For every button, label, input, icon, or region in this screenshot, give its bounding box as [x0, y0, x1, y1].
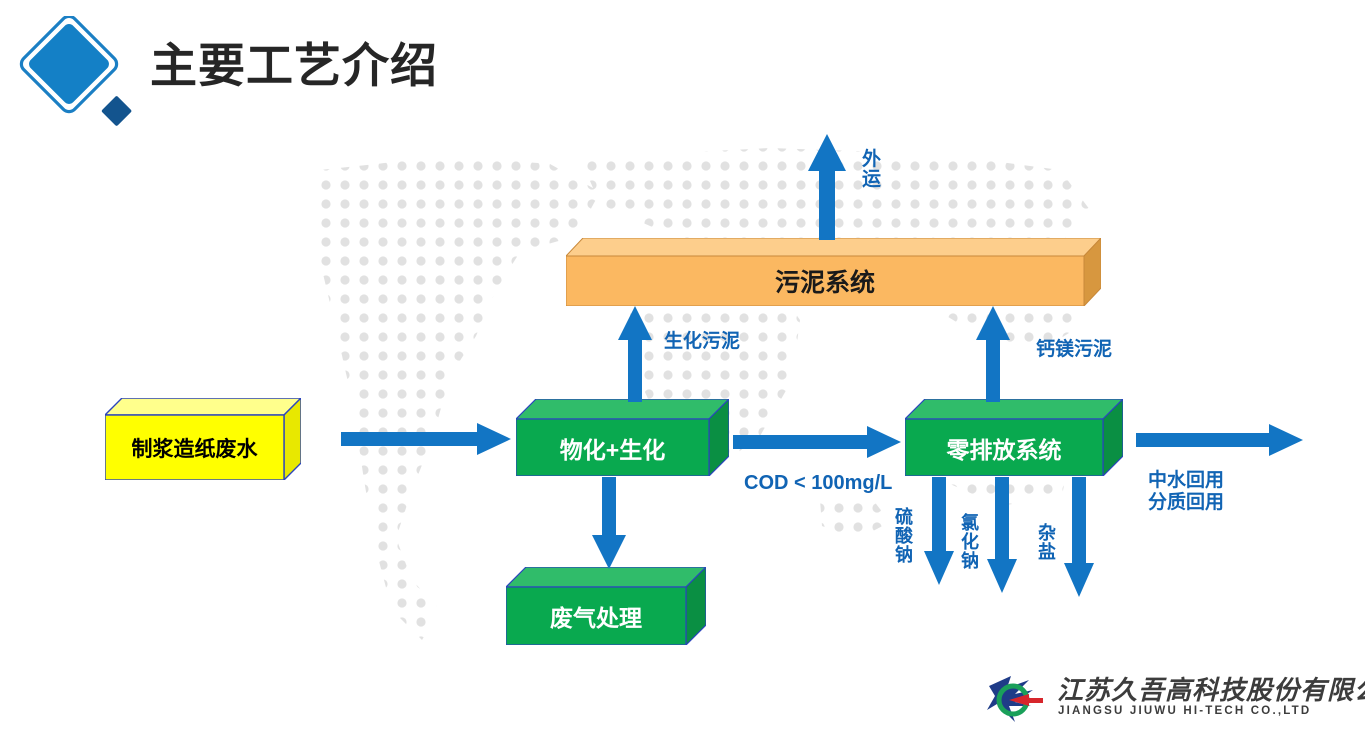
slide-canvas: 主要工艺介绍 污泥系统 制浆造纸废水 物化+生化: [0, 0, 1365, 753]
flow-label-reuse: 中水回用 分质回用: [1148, 470, 1224, 515]
flow-label-sodium-chloride: 氯化钠: [961, 514, 982, 571]
jiuwu-emblem-icon: [985, 672, 1055, 728]
node-sludge-system[interactable]: 污泥系统: [566, 238, 1101, 306]
arrow-zld-sodium-chloride: [987, 477, 1017, 593]
company-logo: 江苏久吾高科技股份有限公司 JIANGSU JIUWU HI-TECH CO.,…: [985, 672, 1355, 734]
arrow-zld-mixed-salt: [1064, 477, 1094, 597]
node-waste-gas-treatment[interactable]: 废气处理: [506, 567, 706, 645]
flow-label-camg-sludge: 钙镁污泥: [1036, 339, 1112, 361]
node-physicochemical-biochemical[interactable]: 物化+生化: [516, 399, 729, 476]
node-label: 制浆造纸废水: [132, 433, 258, 463]
slide-header: 主要工艺介绍: [0, 0, 1365, 130]
arrow-zld-to-sludge: [976, 306, 1010, 402]
flow-label-cod: COD < 100mg/L: [744, 472, 892, 496]
flow-label-reuse-line1: 中水回用: [1148, 470, 1224, 492]
company-name-en: JIANGSU JIUWU HI-TECH CO.,LTD: [1058, 705, 1311, 717]
flow-label-sodium-sulfate: 硫酸钠: [895, 508, 916, 565]
node-zero-liquid-discharge[interactable]: 零排放系统: [905, 399, 1123, 476]
arrow-zld-to-reuse: [1136, 424, 1303, 456]
node-pulp-paper-wastewater[interactable]: 制浆造纸废水: [105, 398, 301, 480]
arrow-influent-to-treatment: [341, 423, 511, 455]
flow-label-reuse-line2: 分质回用: [1148, 492, 1224, 514]
arrow-zld-sodium-sulfate: [924, 477, 954, 585]
node-label: 零排放系统: [947, 431, 1062, 465]
arrow-sludge-offsite: [808, 134, 846, 240]
node-label: 废气处理: [550, 599, 642, 633]
node-label: 物化+生化: [560, 431, 665, 465]
flow-label-offsite: 外运: [862, 150, 884, 190]
blue-diamond-logo-icon: [17, 16, 107, 106]
arrow-treatment-to-sludge: [618, 306, 652, 402]
arrow-treatment-to-zld: [733, 426, 901, 458]
node-label: 污泥系统: [775, 263, 875, 299]
page-title: 主要工艺介绍: [150, 37, 438, 95]
flow-label-bio-sludge: 生化污泥: [664, 331, 740, 353]
arrow-treatment-to-offgas: [592, 477, 626, 569]
flow-label-mixed-salt: 杂盐: [1038, 524, 1059, 562]
company-name-cn: 江苏久吾高科技股份有限公司: [1057, 670, 1365, 707]
